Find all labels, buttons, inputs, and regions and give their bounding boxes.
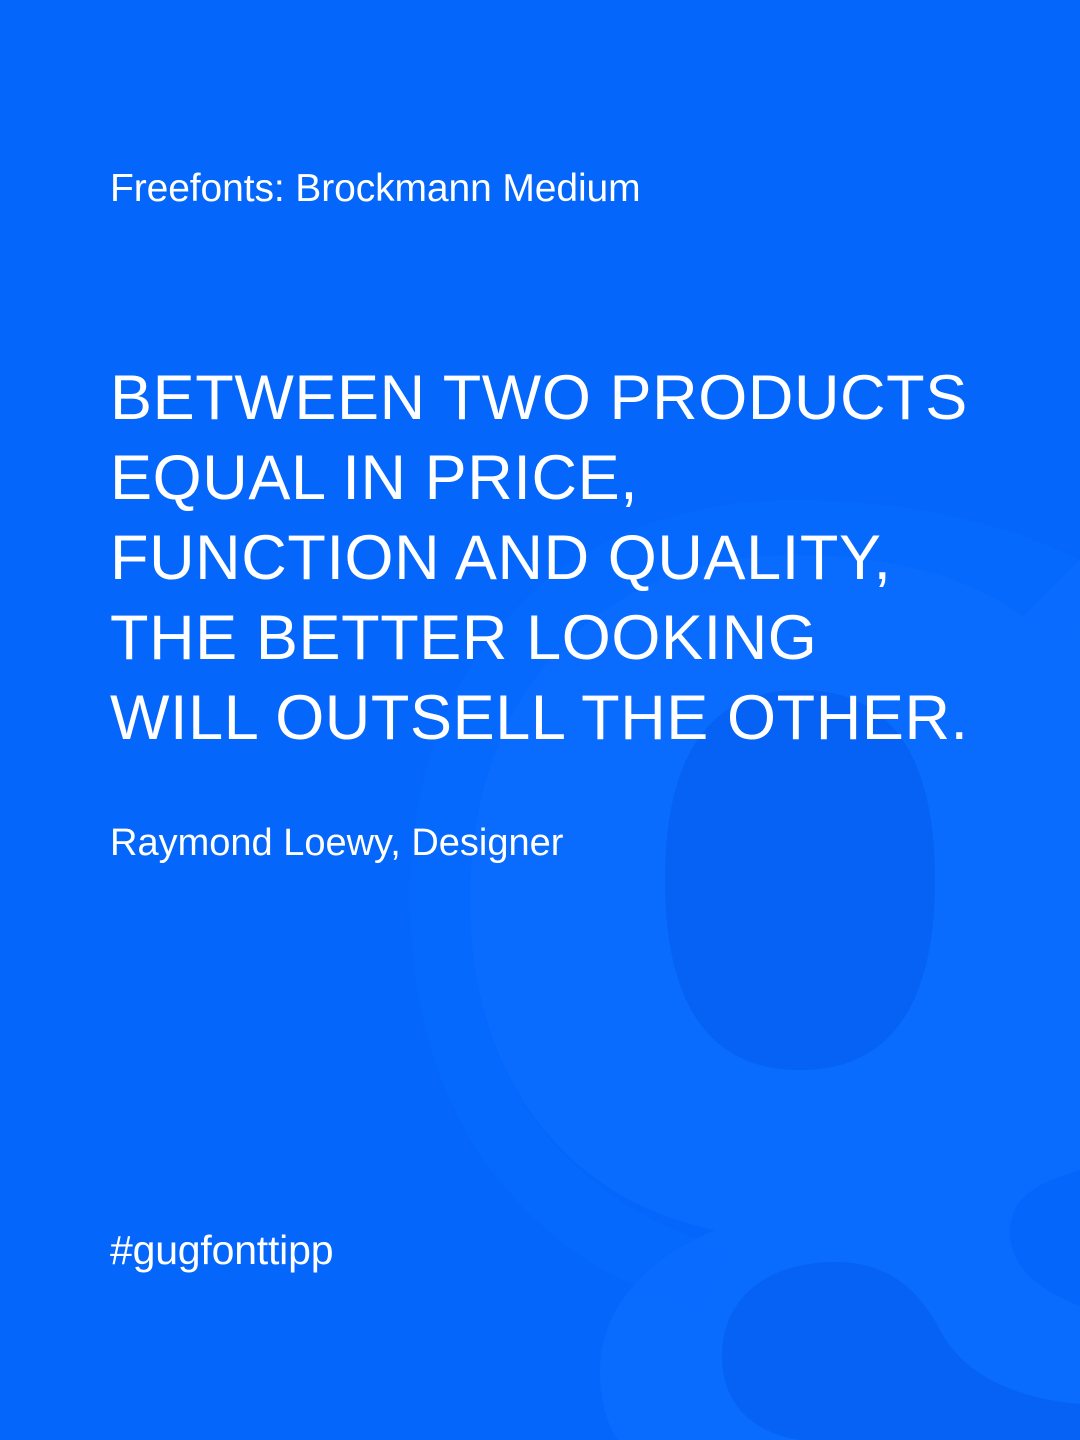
poster-content: Freefonts: Brockmann Medium BETWEEN TWO … [0,0,1080,1440]
quote-line-1: BETWEEN TWO PRODUCTS [110,358,1010,438]
poster-canvas: Freefonts: Brockmann Medium BETWEEN TWO … [0,0,1080,1440]
hashtag-label: #gugfonttipp [110,1226,333,1275]
quote-line-5: WILL OUTSELL THE OTHER. [110,678,1010,758]
page-eyebrow: Freefonts: Brockmann Medium [110,168,641,211]
quote-attribution: Raymond Loewy, Designer [110,821,563,867]
quote-block: BETWEEN TWO PRODUCTS EQUAL IN PRICE, FUN… [110,358,1010,758]
quote-line-2: EQUAL IN PRICE, [110,438,1010,518]
quote-line-3: FUNCTION AND QUALITY, [110,518,1010,598]
quote-line-4: THE BETTER LOOKING [110,598,1010,678]
